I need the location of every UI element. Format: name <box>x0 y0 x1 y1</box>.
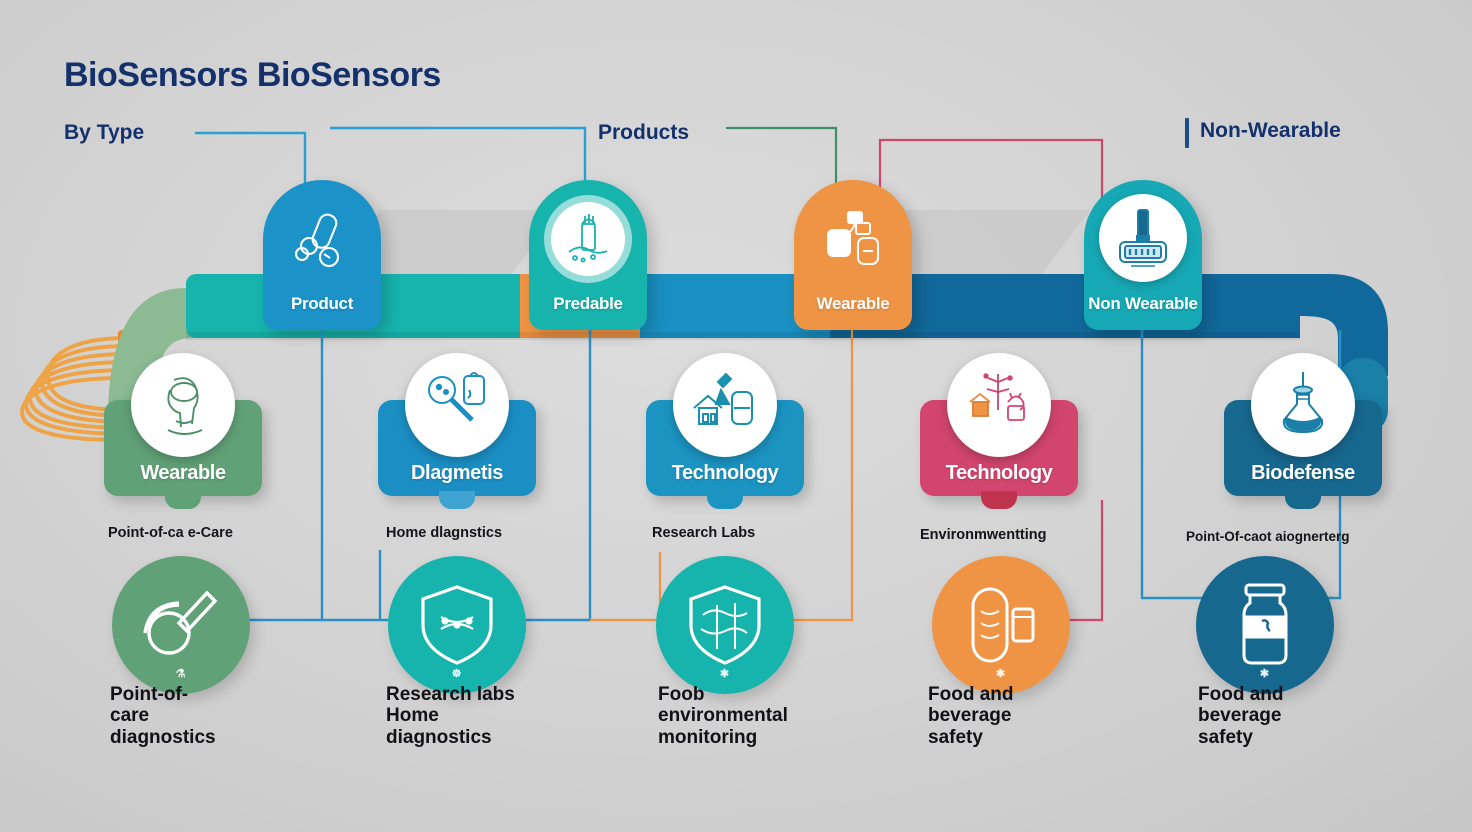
header-by-type: By Type <box>64 121 144 145</box>
circle-food-beverage-blue[interactable]: ✱ <box>1196 556 1334 694</box>
pin-label: Wearable <box>817 294 890 314</box>
pin-product[interactable]: Product <box>263 180 381 330</box>
glucometer-icon <box>1099 194 1187 282</box>
circle-point-of-care[interactable]: ⚗ <box>112 556 250 694</box>
flask-icon <box>1251 353 1355 457</box>
pin-label: Non Wearable <box>1088 294 1197 314</box>
circle-label: Food and beverage safety <box>928 684 1108 748</box>
card-caption: Research Labs <box>652 525 755 541</box>
card-label: Technology <box>946 462 1053 485</box>
circle-research-labs[interactable]: ☸ <box>388 556 526 694</box>
shield-globe-icon <box>683 581 767 669</box>
header-divider-bar <box>1185 118 1189 148</box>
shield-dna-icon <box>415 581 499 669</box>
circle-badge: ✱ <box>720 667 730 680</box>
pin-predable[interactable]: Predable <box>529 180 647 330</box>
card-caption: Point-Of-caot aiognerterg <box>1186 529 1350 544</box>
pin-label: Product <box>291 294 353 314</box>
card-caption: Point-of-ca e-Care <box>108 525 233 541</box>
pin-label: Predable <box>553 294 622 314</box>
infographic-canvas: BioSensors BioSensors By Type Products N… <box>0 0 1472 832</box>
circle-label: Point-of- care diagnostics <box>110 684 290 748</box>
magnifier-device-icon <box>405 353 509 457</box>
head-profile-icon <box>131 353 235 457</box>
card-notch <box>707 491 743 509</box>
circle-label: Foob environmental monitoring <box>658 684 858 748</box>
card-caption: Environmwentting <box>920 527 1046 543</box>
card-diagnostics[interactable]: Dlagmetis <box>378 400 536 496</box>
bandage-icon <box>285 202 359 276</box>
circle-label: Food and beverage safety <box>1198 684 1378 748</box>
circle-badge: ☸ <box>452 667 463 680</box>
circle-badge: ✱ <box>996 667 1006 680</box>
circle-badge: ⚗ <box>176 667 187 680</box>
environment-icon <box>947 353 1051 457</box>
card-label: Dlagmetis <box>411 462 503 485</box>
pin-wearable[interactable]: Wearable <box>794 180 912 330</box>
microbe-hand-icon <box>551 202 625 276</box>
circle-food-environmental[interactable]: ✱ <box>656 556 794 694</box>
card-label: Biodefense <box>1251 462 1355 485</box>
card-caption: Home dlagnstics <box>386 525 502 541</box>
card-label: Wearable <box>140 462 225 485</box>
page-title: BioSensors BioSensors <box>64 56 441 95</box>
pin-non-wearable[interactable]: Non Wearable <box>1084 180 1202 330</box>
circle-label: Research labs Home diagnostics <box>386 684 596 748</box>
card-biodefense[interactable]: Biodefense <box>1224 400 1382 496</box>
card-notch <box>439 491 475 509</box>
circle-badge: ✱ <box>1260 667 1270 680</box>
card-wearable[interactable]: Wearable <box>104 400 262 496</box>
header-non-wearable: Non-Wearable <box>1200 119 1341 143</box>
lab-house-icon <box>673 353 777 457</box>
card-notch <box>1285 491 1321 509</box>
capsule-jar-icon <box>961 581 1041 669</box>
circle-food-beverage-orange[interactable]: ✱ <box>932 556 1070 694</box>
card-notch <box>165 491 201 509</box>
card-notch <box>981 491 1017 509</box>
card-technology-research[interactable]: Technology <box>646 400 804 496</box>
card-label: Technology <box>672 462 779 485</box>
header-products: Products <box>598 121 689 145</box>
device-kit-icon <box>816 202 890 276</box>
card-technology-environment[interactable]: Technology <box>920 400 1078 496</box>
jar-icon <box>1228 581 1302 669</box>
pipette-dish-icon <box>135 581 227 669</box>
